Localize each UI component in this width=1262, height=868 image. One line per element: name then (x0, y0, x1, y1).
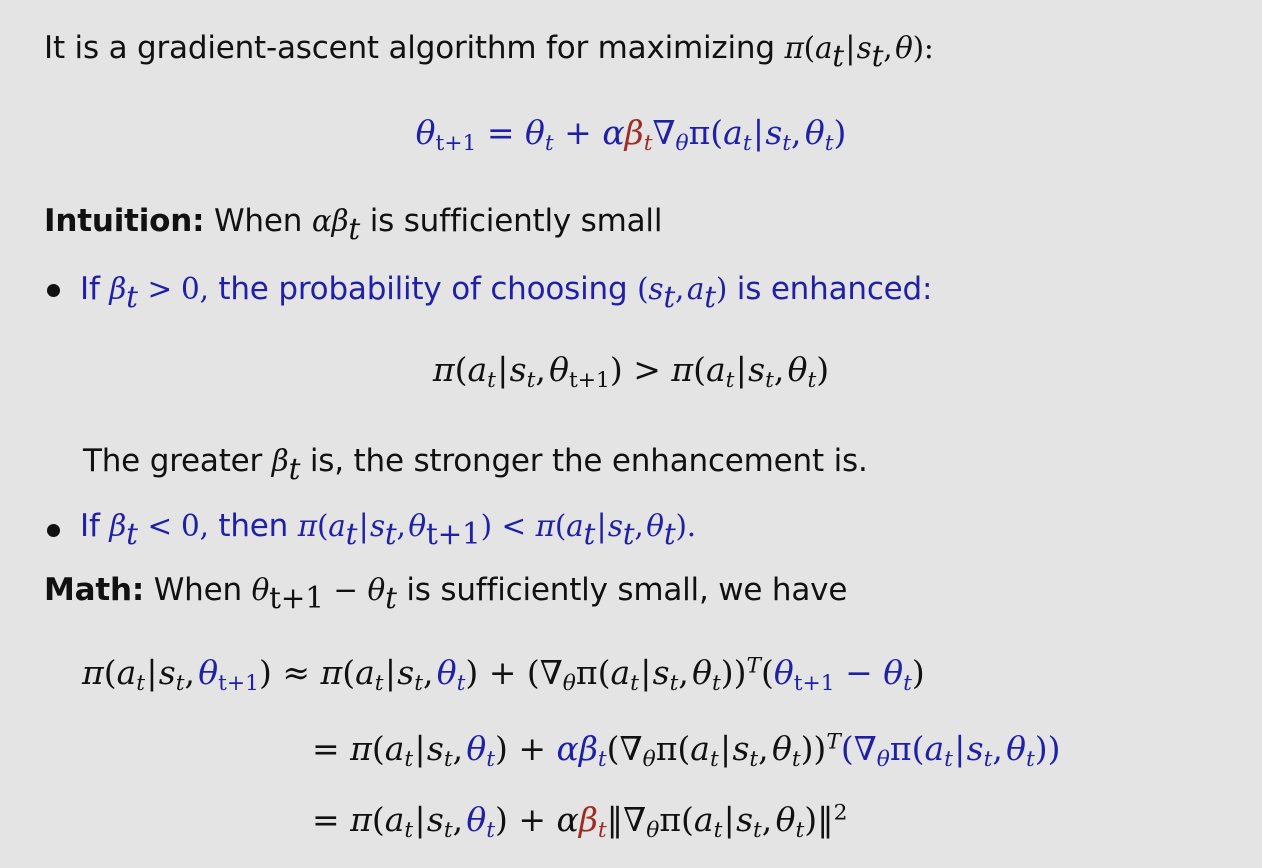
greater-after: is, the stronger the enhancement is. (310, 443, 868, 479)
action-symbol: a (706, 350, 726, 389)
d3-beta-term: βt (579, 800, 607, 839)
conditional-bar: | (384, 653, 398, 692)
pi-symbol: π (659, 800, 681, 839)
greater-than-sign: > (633, 350, 661, 389)
time-subscript: t (807, 368, 816, 393)
time-subscript: t (414, 671, 423, 696)
derivation-line-3: = π(at|st, θt) + αβt‖∇θπ(at|st, θt)‖2 (312, 800, 847, 839)
conditional-bar: | (413, 800, 427, 839)
rparen: )) (801, 729, 827, 768)
equals-sign: = (487, 113, 515, 152)
action-symbol: a (610, 653, 630, 692)
transpose-exponent: T (826, 730, 841, 755)
equation-update-rule: θt+1 = θt + αβt∇θπ(at|st, θt) (0, 113, 1262, 152)
time-subscript: t (710, 747, 719, 772)
lparen: ( (761, 653, 774, 692)
lparen: ( (455, 350, 468, 389)
action-symbol: a (694, 800, 714, 839)
comma: , (423, 653, 437, 692)
intuition-label: Intuition: (44, 203, 204, 239)
time-subscript: t (792, 747, 801, 772)
bullet1-beta: βt (109, 271, 137, 307)
pi-symbol: π (298, 509, 317, 543)
theta-symbol: θ (1006, 729, 1026, 768)
time-subscript: t (348, 212, 360, 246)
t-plus-1-subscript: t+1 (794, 671, 835, 696)
transpose-exponent: T (747, 654, 762, 679)
alpha-symbol: α (557, 729, 579, 768)
equation-probability-inequality: π(at|st, θt+1) > π(at|st, θt) (0, 350, 1262, 389)
time-subscript: t (663, 280, 675, 314)
theta-symbol: θ (805, 113, 825, 152)
beta-symbol: β (579, 729, 598, 768)
derivation-line-2: = π(at|st, θt) + αβt(∇θπ(at|st, θt))T(∇θ… (312, 729, 1060, 768)
comma: , (992, 729, 1006, 768)
bullet-item-negative-beta: If βt < 0, then π(at|st, θt+1) < π(at|st… (80, 508, 696, 544)
intro-text: It is a gradient-ascent algorithm for ma… (44, 30, 775, 66)
theta-symbol: θ (774, 653, 794, 692)
intro-math: π(at|st, θ): (784, 30, 933, 66)
beta-symbol: β (332, 204, 349, 238)
rparen: ) (610, 350, 623, 389)
pi-symbol: π (82, 653, 104, 692)
d2-gradient-term: (∇θπ(at|st, θt))T (607, 729, 841, 768)
state-symbol: s (967, 729, 984, 768)
time-subscript: t (598, 747, 607, 772)
pi-symbol: π (320, 653, 342, 692)
conditional-bar: | (752, 113, 766, 152)
lparen: ( (104, 653, 117, 692)
bullet1-if: If (80, 271, 100, 307)
pi-symbol: π (350, 729, 372, 768)
rparen: )) (721, 653, 747, 692)
bullet-marker (47, 284, 60, 297)
plus-sign: + (518, 800, 546, 839)
d3-term1: π(at|st, θt) (350, 800, 508, 839)
theta-subscript: θ (643, 747, 656, 772)
action-symbol: a (467, 350, 487, 389)
time-subscript: t (704, 280, 716, 314)
state-symbol: s (397, 653, 414, 692)
conditional-bar: | (734, 350, 748, 389)
lparen: ( (607, 729, 620, 768)
lparen: ( (681, 800, 694, 839)
pi-symbol: π (784, 31, 803, 65)
nabla-icon: ∇ (623, 800, 646, 839)
state-symbol: s (736, 800, 753, 839)
bullet1-tail: is enhanced: (737, 271, 932, 307)
time-subscript: t (872, 39, 884, 73)
state-symbol: s (427, 729, 444, 768)
d2-term1: π(at|st, θt) (350, 729, 508, 768)
beta-symbol: β (625, 113, 644, 152)
time-subscript: t (795, 818, 804, 843)
ineq-lhs: π(at|st, θt+1) (433, 350, 623, 389)
time-subscript: t (486, 747, 495, 772)
pi-symbol: π (576, 653, 598, 692)
plus-sign: + (489, 653, 517, 692)
action-symbol: a (328, 509, 345, 543)
rparen: ) (481, 509, 492, 543)
math-when: When (154, 572, 242, 608)
plus-sign: + (564, 113, 592, 152)
t-plus-1-subscript: t+1 (426, 517, 481, 551)
conditional-bar: | (639, 653, 653, 692)
state-symbol: s (748, 350, 765, 389)
square-exponent: 2 (834, 801, 848, 826)
bullet2-then: then (218, 508, 288, 544)
comma: , (762, 800, 776, 839)
conditional-bar: | (719, 729, 733, 768)
theta-symbol: θ (416, 113, 436, 152)
time-subscript: t (487, 368, 496, 393)
theta-symbol: θ (368, 573, 386, 607)
time-subscript: t (486, 818, 495, 843)
update-lhs: θt+1 (416, 113, 477, 152)
bullet2-rhs: π(at|st, θt). (536, 508, 696, 544)
ineq-rhs: π(at|st, θt) (671, 350, 829, 389)
t-plus-1-subscript: t+1 (569, 368, 610, 393)
d3-norm-term: ‖∇θπ(at|st, θt)‖2 (607, 800, 848, 839)
alpha-symbol: α (312, 204, 332, 238)
comma: , (678, 653, 692, 692)
comma: , (397, 509, 409, 543)
minus-sign: − (845, 653, 873, 692)
theta-symbol: θ (788, 350, 808, 389)
beta-symbol: β (579, 800, 598, 839)
norm-bar-open: ‖ (607, 800, 624, 839)
rparen: ) (495, 729, 508, 768)
theta-symbol: θ (692, 653, 712, 692)
state-symbol: s (159, 653, 176, 692)
math-line: Math: When θt+1 − θt is sufficiently sma… (44, 572, 847, 608)
lparen: ( (912, 729, 925, 768)
conditional-bar: | (844, 30, 857, 66)
theta-symbol: θ (466, 800, 486, 839)
bullet-item-positive-beta: If βt > 0, the probability of choosing (… (80, 271, 932, 307)
time-subscript: t (126, 280, 138, 314)
update-theta-t: θt (525, 113, 554, 152)
plus-sign: + (518, 729, 546, 768)
norm-bar-close: ‖ (817, 800, 834, 839)
action-symbol: a (690, 729, 710, 768)
intuition-when: When (214, 203, 302, 239)
lparen: ( (555, 509, 566, 543)
conditional-bar: | (953, 729, 967, 768)
conditional-bar: | (595, 508, 608, 544)
action-symbol: a (385, 729, 405, 768)
beta-term: βt (625, 113, 653, 152)
bullet2-lhs: π(at|st, θt+1) (298, 508, 492, 544)
time-subscript: t (545, 131, 554, 156)
time-subscript: t (346, 517, 358, 551)
pi-symbol: π (536, 509, 555, 543)
comma: , (675, 272, 687, 306)
pi-symbol: π (350, 800, 372, 839)
comma: , (453, 729, 467, 768)
slide-canvas: It is a gradient-ascent algorithm for ma… (0, 0, 1262, 868)
state-symbol: s (608, 509, 623, 543)
lparen: ( (527, 653, 540, 692)
lparen: ( (342, 653, 355, 692)
time-subscript: t (385, 517, 397, 551)
theta-symbol: θ (772, 729, 792, 768)
comma: , (774, 350, 788, 389)
pi-symbol: π (671, 350, 693, 389)
action-symbol: a (355, 653, 375, 692)
theta-symbol: θ (549, 350, 569, 389)
action-symbol: a (117, 653, 137, 692)
time-subscript: t (765, 368, 774, 393)
time-subscript: t (444, 747, 453, 772)
time-subscript: t (289, 452, 301, 486)
lparen: ( (637, 272, 648, 306)
minus-sign: − (333, 573, 357, 607)
rparen: )) (1035, 729, 1061, 768)
bullet2-beta: βt (109, 508, 137, 544)
rparen: ) (465, 653, 478, 692)
state-symbol: s (370, 509, 385, 543)
math-delta: θt+1 − θt (252, 572, 397, 608)
state-symbol: s (857, 31, 872, 65)
rparen: ) (804, 800, 817, 839)
action-symbol: a (687, 272, 704, 306)
pi-symbol: π (656, 729, 678, 768)
math-tail: is sufficiently small, we have (406, 572, 847, 608)
time-subscript: t (623, 517, 635, 551)
conditional-bar: | (357, 508, 370, 544)
bullet1-condition: > 0, (147, 272, 208, 306)
greater-beta: βt (272, 443, 300, 479)
time-subscript: t (444, 818, 453, 843)
bullet2-condition: < 0, (147, 509, 208, 543)
intro-sentence: It is a gradient-ascent algorithm for ma… (44, 30, 934, 66)
t-plus-1-subscript: t+1 (269, 581, 324, 615)
theta-subscript: θ (563, 671, 576, 696)
state-symbol: s (648, 272, 663, 306)
conditional-bar: | (722, 800, 736, 839)
beta-symbol: β (109, 509, 126, 543)
rparen-colon: ): (913, 31, 934, 65)
bullet1-pair: (st, at) (637, 271, 727, 307)
rparen: ) (259, 653, 272, 692)
state-symbol: s (427, 800, 444, 839)
pi-symbol: π (689, 113, 711, 152)
action-symbol: a (385, 800, 405, 839)
time-subscript: t (903, 671, 912, 696)
lparen: ( (677, 729, 690, 768)
theta-symbol: θ (466, 729, 486, 768)
time-subscript: t (664, 517, 676, 551)
lparen: ( (804, 31, 815, 65)
time-subscript: t (630, 671, 639, 696)
lparen: ( (710, 113, 723, 152)
comma: , (453, 800, 467, 839)
time-subscript: t (404, 747, 413, 772)
theta-symbol: θ (895, 31, 913, 65)
alpha-symbol: α (602, 113, 624, 152)
time-subscript: t (782, 131, 791, 156)
time-subscript: t (712, 671, 721, 696)
rparen: ) (816, 350, 829, 389)
time-subscript: t (1026, 747, 1035, 772)
action-symbol: a (566, 509, 583, 543)
rparen: ) (495, 800, 508, 839)
state-symbol: s (732, 729, 749, 768)
rparen: ) (716, 272, 727, 306)
beta-symbol: β (272, 444, 289, 478)
theta-symbol: θ (252, 573, 270, 607)
rparen: ) (912, 653, 925, 692)
time-subscript: t (743, 131, 752, 156)
greater-beta-sentence: The greater βt is, the stronger the enha… (83, 443, 868, 479)
nabla-icon: ∇ (540, 653, 563, 692)
theta-symbol: θ (437, 653, 457, 692)
bullet-marker (47, 524, 60, 537)
d2-step-size: αβt (557, 729, 607, 768)
approx-sign: ≈ (282, 653, 310, 692)
nabla-icon: ∇ (652, 113, 675, 152)
derivation-line-1: π(at|st, θt+1) ≈ π(at|st, θt) + (∇θπ(at|… (82, 653, 925, 692)
theta-subscript: θ (877, 747, 890, 772)
time-subscript: t (126, 517, 138, 551)
time-subscript: t (753, 818, 762, 843)
lparen: ( (372, 800, 385, 839)
lparen: ( (598, 653, 611, 692)
intuition-tail: is sufficiently small (370, 203, 663, 239)
time-subscript: t (832, 39, 844, 73)
less-than-sign: < (502, 509, 526, 543)
d1-lhs: π(at|st, θt+1) (82, 653, 272, 692)
state-symbol: s (653, 653, 670, 692)
beta-symbol: β (109, 272, 126, 306)
time-subscript: t (404, 818, 413, 843)
state-symbol: s (510, 350, 527, 389)
comma: , (883, 31, 895, 65)
theta-symbol: θ (776, 800, 796, 839)
intuition-line: Intuition: When αβt is sufficiently smal… (44, 203, 662, 239)
equals-sign: = (312, 800, 340, 839)
comma: , (634, 509, 646, 543)
nabla-icon: ∇ (620, 729, 643, 768)
d2-gradient-term-2: (∇θπ(at|st, θt)) (841, 729, 1061, 768)
theta-symbol: θ (525, 113, 545, 152)
alpha-symbol: α (557, 800, 579, 839)
conditional-bar: | (413, 729, 427, 768)
time-subscript: t (385, 581, 397, 615)
comma: , (184, 653, 198, 692)
bullet1-mid: the probability of choosing (218, 271, 627, 307)
bullet2-if: If (80, 508, 100, 544)
math-label: Math: (44, 572, 144, 608)
theta-symbol: θ (408, 509, 426, 543)
time-subscript: t (598, 818, 607, 843)
lparen: ( (317, 509, 328, 543)
t-plus-1-subscript: t+1 (218, 671, 259, 696)
time-subscript: t (136, 671, 145, 696)
greater-before: The greater (83, 443, 262, 479)
conditional-bar: | (145, 653, 159, 692)
pi-symbol: π (890, 729, 912, 768)
action-symbol: a (924, 729, 944, 768)
theta-subscript: θ (646, 818, 659, 843)
lparen: ( (693, 350, 706, 389)
lparen: ( (841, 729, 854, 768)
time-subscript: t (375, 671, 384, 696)
conditional-bar: | (496, 350, 510, 389)
lparen: ( (372, 729, 385, 768)
time-subscript: t (583, 517, 595, 551)
theta-symbol: θ (198, 653, 218, 692)
comma: , (791, 113, 802, 152)
d1-gradient-term: (∇θπ(at|st, θt))T (527, 653, 761, 692)
pi-symbol: π (433, 350, 455, 389)
rparen-period: ). (675, 509, 695, 543)
time-subscript: t (749, 747, 758, 772)
rparen: ) (833, 113, 846, 152)
d1-term1: π(at|st, θt) (320, 653, 478, 692)
equals-sign: = (312, 729, 340, 768)
comma: , (535, 350, 549, 389)
t-plus-1-subscript: t+1 (436, 131, 477, 156)
intuition-math: αβt (312, 203, 360, 239)
action-symbol: a (723, 113, 743, 152)
theta-symbol: θ (646, 509, 664, 543)
action-symbol: a (815, 31, 832, 65)
nabla-icon: ∇ (854, 729, 877, 768)
state-symbol: s (765, 113, 782, 152)
comma: , (758, 729, 772, 768)
theta-subscript: θ (675, 131, 688, 156)
d1-delta-theta: θt+1 − θt (774, 653, 912, 692)
time-subscript: t (944, 747, 953, 772)
theta-symbol: θ (883, 653, 903, 692)
